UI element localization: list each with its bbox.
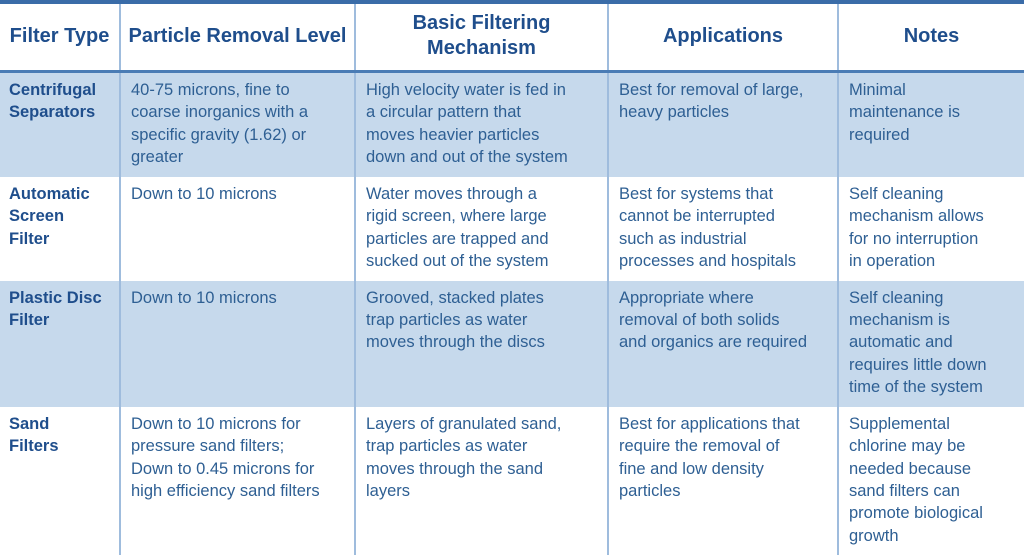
cell-basic-filtering-mechanism: Grooved, stacked plates trap particles a… [355, 281, 608, 407]
table-body: Centrifugal Separators 40-75 microns, fi… [0, 72, 1024, 555]
cell-applications: Best for applications that require the r… [608, 407, 838, 555]
table-row: Plastic Disc Filter Down to 10 microns G… [0, 281, 1024, 407]
cell-basic-filtering-mechanism: Layers of granulated sand, trap particle… [355, 407, 608, 555]
cell-basic-filtering-mechanism: High velocity water is fed in a circular… [355, 72, 608, 177]
cell-filter-type: Automatic Screen Filter [0, 177, 120, 281]
column-header-basic-filtering-mechanism: Basic Filtering Mechanism [355, 4, 608, 72]
column-header-particle-removal-level: Particle Removal Level [120, 4, 355, 72]
cell-notes: Self cleaning mechanism is automatic and… [838, 281, 1024, 407]
cell-notes: Self cleaning mechanism allows for no in… [838, 177, 1024, 281]
cell-particle-removal-level: Down to 10 microns [120, 281, 355, 407]
cell-notes: Supplemental chlorine may be needed beca… [838, 407, 1024, 555]
cell-basic-filtering-mechanism: Water moves through a rigid screen, wher… [355, 177, 608, 281]
table-row: Sand Filters Down to 10 microns for pres… [0, 407, 1024, 555]
cell-filter-type: Plastic Disc Filter [0, 281, 120, 407]
cell-filter-type: Centrifugal Separators [0, 72, 120, 177]
cell-filter-type: Sand Filters [0, 407, 120, 555]
cell-particle-removal-level: Down to 10 microns [120, 177, 355, 281]
cell-particle-removal-level: Down to 10 microns for pressure sand fil… [120, 407, 355, 555]
header-row: Filter Type Particle Removal Level Basic… [0, 4, 1024, 72]
table-row: Automatic Screen Filter Down to 10 micro… [0, 177, 1024, 281]
column-header-filter-type: Filter Type [0, 4, 120, 72]
column-header-notes: Notes [838, 4, 1024, 72]
table-row: Centrifugal Separators 40-75 microns, fi… [0, 72, 1024, 177]
column-header-applications: Applications [608, 4, 838, 72]
table-header: Filter Type Particle Removal Level Basic… [0, 4, 1024, 72]
cell-applications: Best for systems that cannot be interrup… [608, 177, 838, 281]
filter-comparison-table-container: Filter Type Particle Removal Level Basic… [0, 0, 1024, 489]
cell-notes: Minimal maintenance is required [838, 72, 1024, 177]
filter-comparison-table: Filter Type Particle Removal Level Basic… [0, 4, 1024, 555]
cell-particle-removal-level: 40-75 microns, fine to coarse inorganics… [120, 72, 355, 177]
cell-applications: Best for removal of large, heavy particl… [608, 72, 838, 177]
cell-applications: Appropriate where removal of both solids… [608, 281, 838, 407]
